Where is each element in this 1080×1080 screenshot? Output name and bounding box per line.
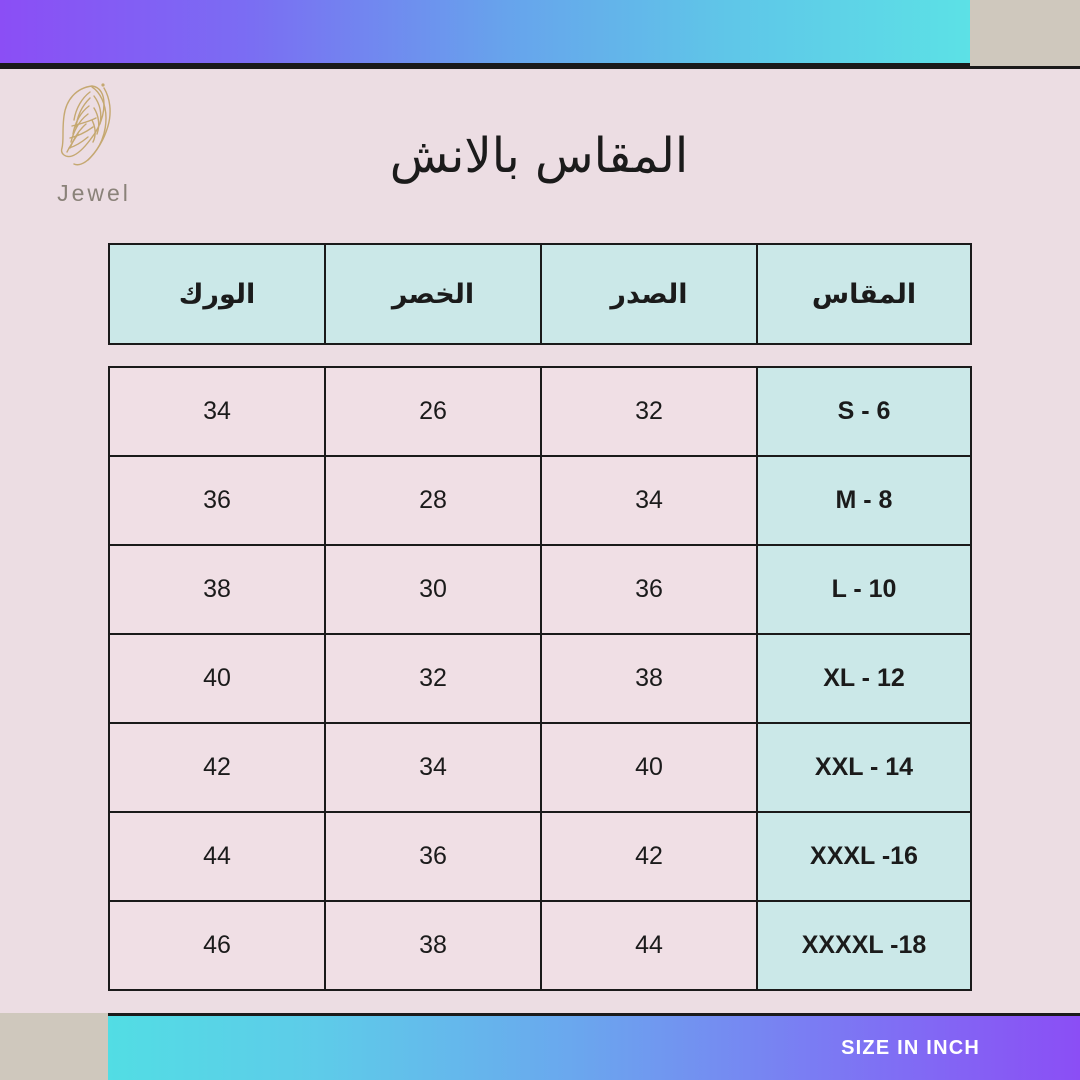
table-row: XXXL -16 42 36 44 bbox=[109, 812, 971, 901]
cell-hip: 42 bbox=[109, 723, 325, 812]
cell-hip: 44 bbox=[109, 812, 325, 901]
cell-hip: 38 bbox=[109, 545, 325, 634]
table-row: L - 10 36 30 38 bbox=[109, 545, 971, 634]
cell-size: L - 10 bbox=[757, 545, 971, 634]
cell-size: XXXXL -18 bbox=[757, 901, 971, 990]
size-table-body: S - 6 32 26 34 M - 8 34 28 36 L - 10 36 … bbox=[108, 366, 972, 991]
size-chart-canvas: Jewel المقاس بالانش المقاس الصدر الخصر ا… bbox=[0, 0, 1080, 1080]
cell-size: S - 6 bbox=[757, 367, 971, 456]
decorative-beige-block-top-right bbox=[970, 0, 1080, 68]
cell-size: XXXL -16 bbox=[757, 812, 971, 901]
top-banner-rule bbox=[0, 66, 1080, 69]
brand-name: Jewel bbox=[34, 180, 154, 207]
size-unit-label: SIZE IN INCH bbox=[841, 1037, 980, 1060]
decorative-beige-block-bottom-left bbox=[0, 1013, 108, 1080]
bottom-overlay-region: SIZE IN INCH bbox=[0, 1013, 1080, 1080]
cell-waist: 36 bbox=[325, 812, 541, 901]
cell-chest: 38 bbox=[541, 634, 757, 723]
column-header-size: المقاس bbox=[757, 244, 971, 344]
size-table-header: المقاس الصدر الخصر الورك bbox=[108, 243, 972, 345]
table-header-row: المقاس الصدر الخصر الورك bbox=[109, 244, 971, 344]
cell-hip: 40 bbox=[109, 634, 325, 723]
cell-waist: 32 bbox=[325, 634, 541, 723]
table-row: XL - 12 38 32 40 bbox=[109, 634, 971, 723]
column-header-hip: الورك bbox=[109, 244, 325, 344]
cell-waist: 34 bbox=[325, 723, 541, 812]
cell-hip: 36 bbox=[109, 456, 325, 545]
cell-chest: 32 bbox=[541, 367, 757, 456]
cell-chest: 36 bbox=[541, 545, 757, 634]
cell-chest: 34 bbox=[541, 456, 757, 545]
column-header-chest: الصدر bbox=[541, 244, 757, 344]
cell-waist: 28 bbox=[325, 456, 541, 545]
cell-hip: 34 bbox=[109, 367, 325, 456]
table-row: S - 6 32 26 34 bbox=[109, 367, 971, 456]
cell-hip: 46 bbox=[109, 901, 325, 990]
cell-waist: 38 bbox=[325, 901, 541, 990]
top-gradient-banner bbox=[0, 0, 970, 66]
cell-waist: 30 bbox=[325, 545, 541, 634]
cell-chest: 44 bbox=[541, 901, 757, 990]
bottom-gradient-banner: SIZE IN INCH bbox=[108, 1013, 1080, 1080]
cell-size: M - 8 bbox=[757, 456, 971, 545]
cell-chest: 40 bbox=[541, 723, 757, 812]
cell-chest: 42 bbox=[541, 812, 757, 901]
cell-size: XXL - 14 bbox=[757, 723, 971, 812]
table-row: XXXXL -18 44 38 46 bbox=[109, 901, 971, 990]
cell-waist: 26 bbox=[325, 367, 541, 456]
column-header-waist: الخصر bbox=[325, 244, 541, 344]
table-row: M - 8 34 28 36 bbox=[109, 456, 971, 545]
table-row: XXL - 14 40 34 42 bbox=[109, 723, 971, 812]
page-title: المقاس بالانش bbox=[108, 128, 970, 184]
cell-size: XL - 12 bbox=[757, 634, 971, 723]
